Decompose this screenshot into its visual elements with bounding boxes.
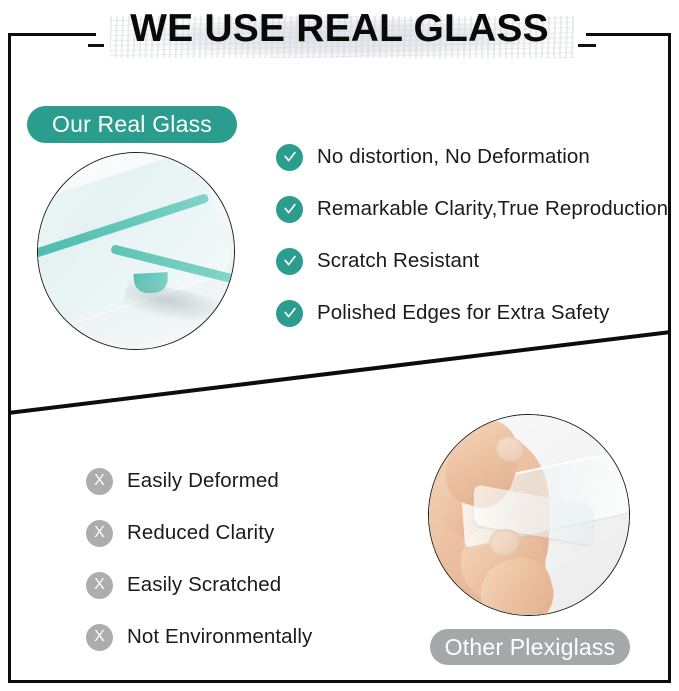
divider-line-svg [8, 325, 671, 420]
plexiglass-photo [428, 414, 630, 616]
list-item-label: Easily Deformed [127, 469, 279, 493]
list-item: Scratch Resistant [276, 235, 674, 287]
list-item-label: No distortion, No Deformation [317, 145, 590, 169]
list-item: X Not Environmentally [86, 611, 416, 663]
plexiglass-photo-scene [429, 415, 629, 615]
badge-other-plexiglass-label: Other Plexiglass [445, 634, 616, 661]
benefits-list: No distortion, No Deformation Remarkable… [276, 131, 674, 339]
x-circle-icon: X [86, 520, 113, 547]
x-glyph: X [94, 473, 105, 489]
page-title: WE USE REAL GLASS [0, 0, 679, 58]
list-item: X Easily Scratched [86, 559, 416, 611]
list-item: No distortion, No Deformation [276, 131, 674, 183]
list-item: Remarkable Clarity,True Reproduction [276, 183, 674, 235]
x-glyph: X [94, 577, 105, 593]
list-item: X Easily Deformed [86, 455, 416, 507]
diagonal-divider [8, 325, 671, 420]
list-item-label: Scratch Resistant [317, 249, 479, 273]
drawbacks-list: X Easily Deformed X Reduced Clarity X Ea… [86, 455, 416, 663]
infographic-page: WE USE REAL GLASS Our Real Glass No dist… [0, 0, 679, 691]
list-item-label: Easily Scratched [127, 573, 281, 597]
x-glyph: X [94, 629, 105, 645]
x-glyph: X [94, 525, 105, 541]
check-circle-icon [276, 144, 303, 171]
badge-our-real-glass-label: Our Real Glass [52, 111, 212, 138]
list-item-label: Remarkable Clarity,True Reproduction [317, 197, 668, 221]
real-glass-photo [37, 152, 235, 350]
real-glass-photo-scene [38, 153, 234, 349]
list-item: Polished Edges for Extra Safety [276, 287, 674, 339]
check-circle-icon [276, 300, 303, 327]
check-circle-icon [276, 196, 303, 223]
list-item-label: Reduced Clarity [127, 521, 274, 545]
list-item: X Reduced Clarity [86, 507, 416, 559]
x-circle-icon: X [86, 468, 113, 495]
badge-our-real-glass: Our Real Glass [27, 106, 237, 143]
x-circle-icon: X [86, 624, 113, 651]
list-item-label: Not Environmentally [127, 625, 312, 649]
list-item-label: Polished Edges for Extra Safety [317, 301, 610, 325]
x-circle-icon: X [86, 572, 113, 599]
badge-other-plexiglass: Other Plexiglass [430, 629, 630, 665]
check-circle-icon [276, 248, 303, 275]
